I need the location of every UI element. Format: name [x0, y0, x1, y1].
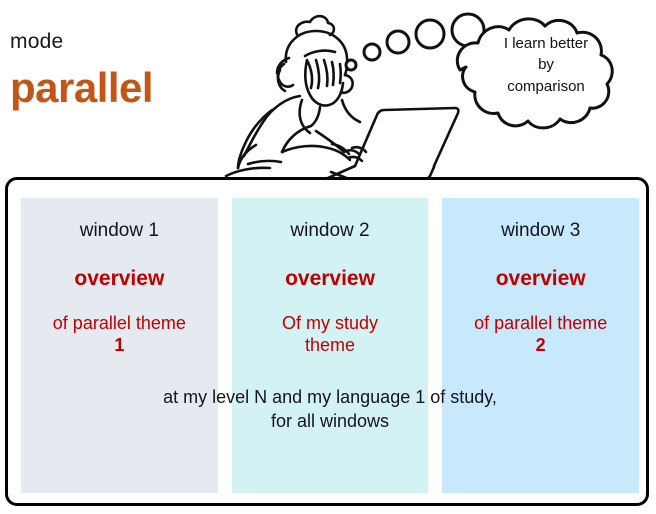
window-1-description-text: of parallel theme	[53, 313, 186, 333]
window-3-title: window 3	[442, 221, 639, 240]
windows-panel: window 1 overview of parallel theme 1 wi…	[5, 177, 649, 506]
window-2-description-text: Of my study	[282, 313, 378, 333]
window-2-title: window 2	[232, 221, 429, 240]
window-1-title: window 1	[21, 221, 218, 240]
window-column-3[interactable]: window 3 overview of parallel theme 2	[442, 198, 639, 493]
window-2-theme-number: theme	[236, 335, 425, 357]
window-3-description: of parallel theme 2	[442, 313, 639, 357]
window-columns: window 1 overview of parallel theme 1 wi…	[21, 198, 639, 493]
window-1-overview-label: overview	[21, 268, 218, 289]
thought-bubble-line-3: comparison	[507, 78, 585, 95]
window-1-description: of parallel theme 1	[21, 313, 218, 357]
thought-bubble-text: I learn better by comparison	[466, 33, 626, 97]
window-2-overview-label: overview	[232, 268, 429, 289]
mode-label: mode	[10, 31, 63, 52]
window-column-2[interactable]: window 2 overview Of my study theme	[232, 198, 429, 493]
header-area: mode parallel	[0, 0, 656, 178]
window-3-overview-label: overview	[442, 268, 639, 289]
window-3-theme-number: 2	[446, 335, 635, 357]
mode-value: parallel	[10, 65, 153, 111]
thought-bubble-line-2: by	[538, 56, 554, 73]
thought-bubble-line-1: I learn better	[504, 35, 588, 52]
window-1-theme-number: 1	[25, 335, 214, 357]
window-column-1[interactable]: window 1 overview of parallel theme 1	[21, 198, 218, 493]
window-3-description-text: of parallel theme	[474, 313, 607, 333]
window-2-description: Of my study theme	[232, 313, 429, 357]
